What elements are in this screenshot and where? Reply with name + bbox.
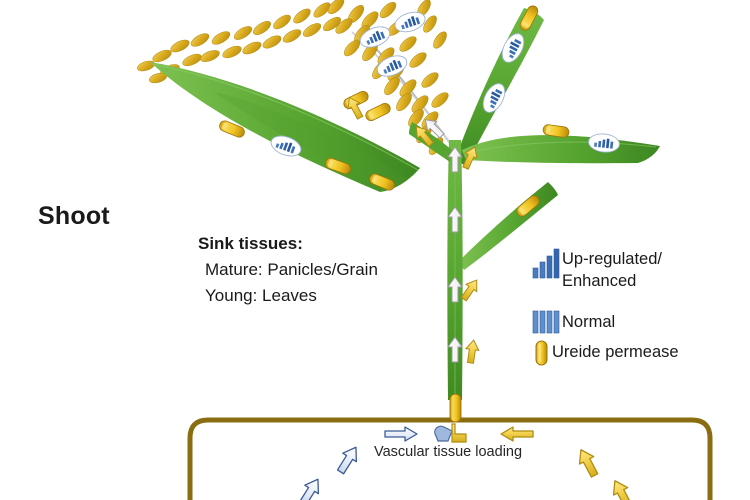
- sink-tissues-mature: Mature: Panicles/Grain: [205, 260, 378, 280]
- ureide-permease-boundary-icon: [450, 394, 461, 422]
- leaf-load-arrow-icon: [464, 339, 480, 364]
- root-yellow-arrow-icon: [608, 477, 636, 500]
- ureide-permease-icon: [364, 102, 392, 123]
- root-yellow-arrow-icon: [574, 446, 602, 479]
- leaf-right-long: [462, 135, 660, 163]
- vascular-blue-arrow-icon: [385, 427, 417, 441]
- sink-tissues-young: Young: Leaves: [205, 286, 317, 306]
- legend-label-upregulated-line2: Enhanced: [562, 272, 636, 291]
- shoot-label: Shoot: [38, 202, 110, 231]
- root-blue-arrow-icon: [334, 443, 363, 476]
- figure-canvas: Shoot Sink tissues: Mature: Panicles/Gra…: [0, 0, 750, 500]
- vascular-yellow-arrow-icon: [501, 427, 533, 441]
- equal-bars-icon: [533, 311, 559, 333]
- ascending-bars-icon: [533, 249, 559, 278]
- legend-label-upregulated-line1: Up-regulated/: [562, 250, 662, 269]
- root-blue-arrow-icon: [296, 475, 325, 500]
- legend-label-normal: Normal: [562, 313, 615, 332]
- vascular-cell-glyph: [435, 424, 466, 442]
- leaf-mid-right: [458, 182, 558, 270]
- vascular-tissue-loading-label: Vascular tissue loading: [374, 444, 522, 460]
- legend-label-ureide-permease: Ureide permease: [552, 343, 679, 362]
- sink-tissues-title: Sink tissues:: [198, 234, 303, 254]
- ureide-permease-capsule-icon: [536, 341, 547, 365]
